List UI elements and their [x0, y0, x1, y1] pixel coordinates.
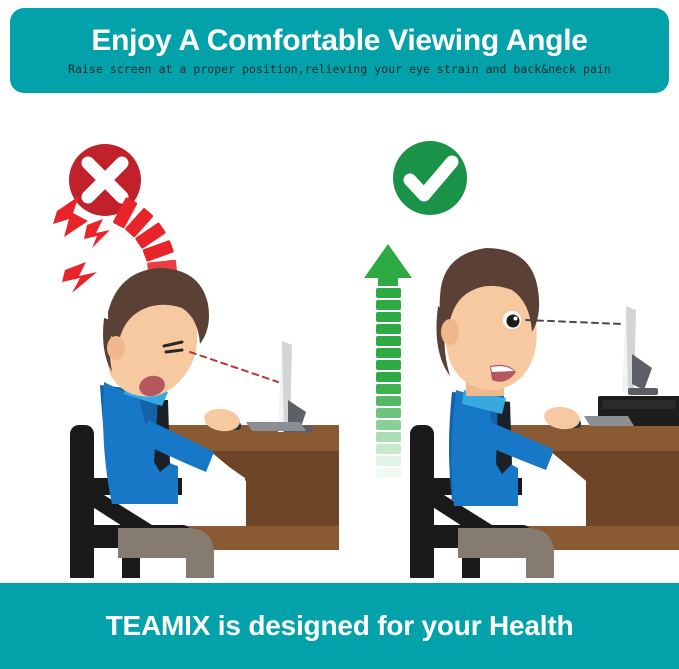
- correct-posture-scene: [340, 100, 679, 578]
- page-subtitle: Raise screen at a proper position,reliev…: [68, 62, 611, 76]
- monitor-raised: [622, 306, 658, 395]
- page-title: Enjoy A Comfortable Viewing Angle: [91, 25, 587, 57]
- footer-banner: TEAMIX is designed for your Health: [0, 583, 679, 669]
- monitor-low: [278, 341, 313, 432]
- raise-arrow-icon: [364, 244, 412, 478]
- infographic-page: Enjoy A Comfortable Viewing Angle Raise …: [0, 0, 679, 669]
- incorrect-posture-scene: [0, 100, 339, 578]
- header-banner: Enjoy A Comfortable Viewing Angle Raise …: [10, 8, 669, 93]
- footer-tagline: TEAMIX is designed for your Health: [106, 610, 574, 642]
- sightline-level: [526, 320, 622, 324]
- check-badge: [393, 141, 467, 215]
- sightline-downward: [190, 352, 278, 382]
